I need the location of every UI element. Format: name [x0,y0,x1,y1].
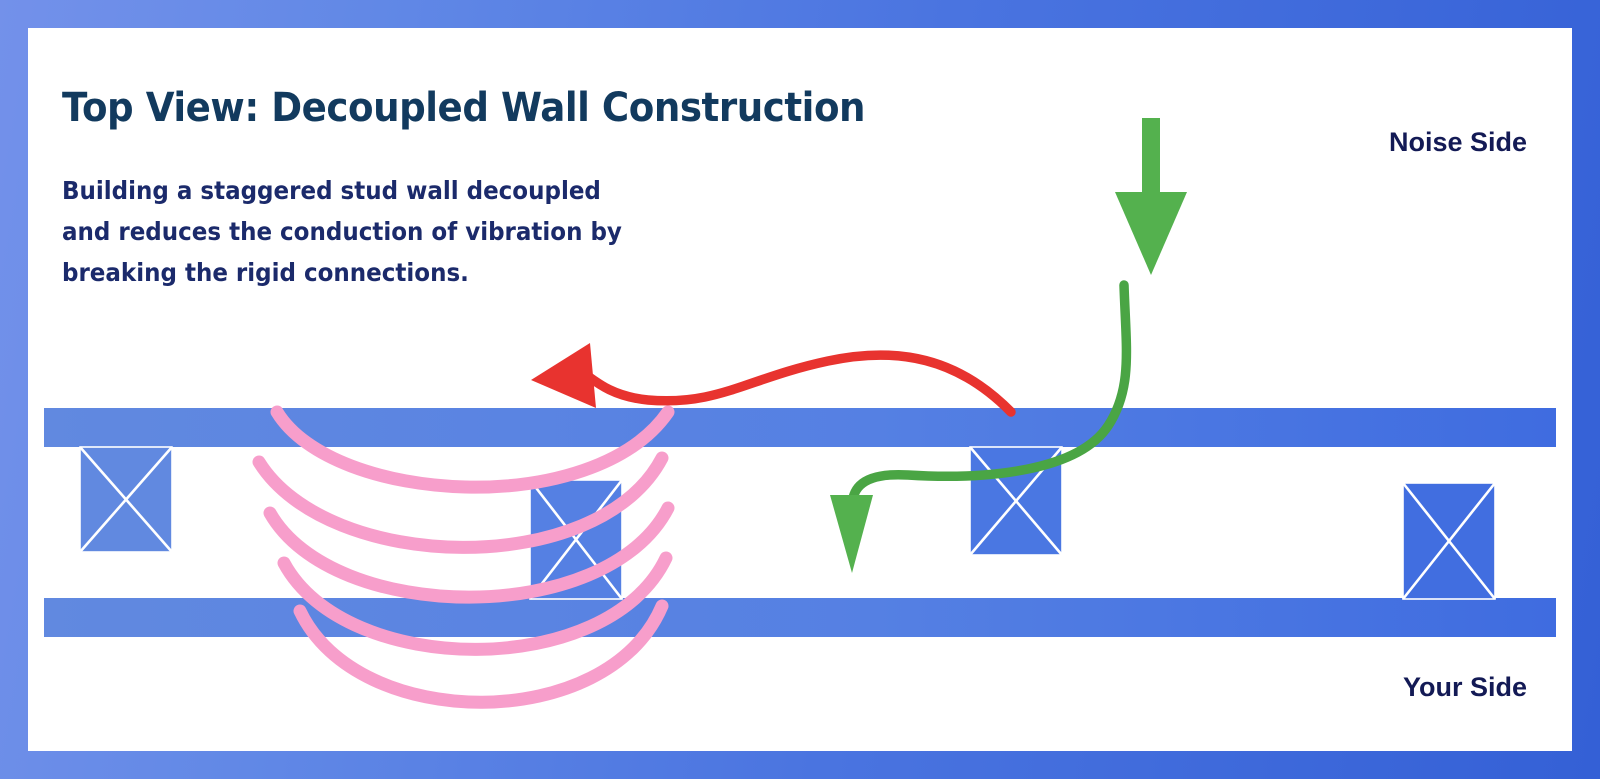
wall-diagram-artwork [28,28,1572,751]
page-title: Top View: Decoupled Wall Construction [62,85,865,131]
green-transmitted-noise-arrow [830,495,873,573]
infographic-frame: Top View: Decoupled Wall Construction Bu… [0,0,1600,779]
green-incoming-noise-arrow [1115,118,1187,275]
description-line-2: and reduces the conduction of vibration … [62,211,622,252]
green-arrow-head [1115,192,1187,275]
stud-1 [80,447,172,552]
red-arrowhead [531,343,596,408]
description-line-3: breaking the rigid connections. [62,252,622,293]
bottom-wall-plate [44,598,1556,637]
noise-side-label: Noise Side [1389,127,1527,158]
diagram-canvas: Top View: Decoupled Wall Construction Bu… [28,28,1572,751]
red-blocked-noise-arrow [531,343,1011,412]
your-side-label: Your Side [1403,672,1527,703]
description-paragraph: Building a staggered stud wall decoupled… [62,170,622,293]
red-wave-path [574,355,1011,412]
stud-4 [1403,483,1495,599]
green-arrow-shaft [1142,118,1160,192]
description-line-1: Building a staggered stud wall decoupled [62,170,622,211]
